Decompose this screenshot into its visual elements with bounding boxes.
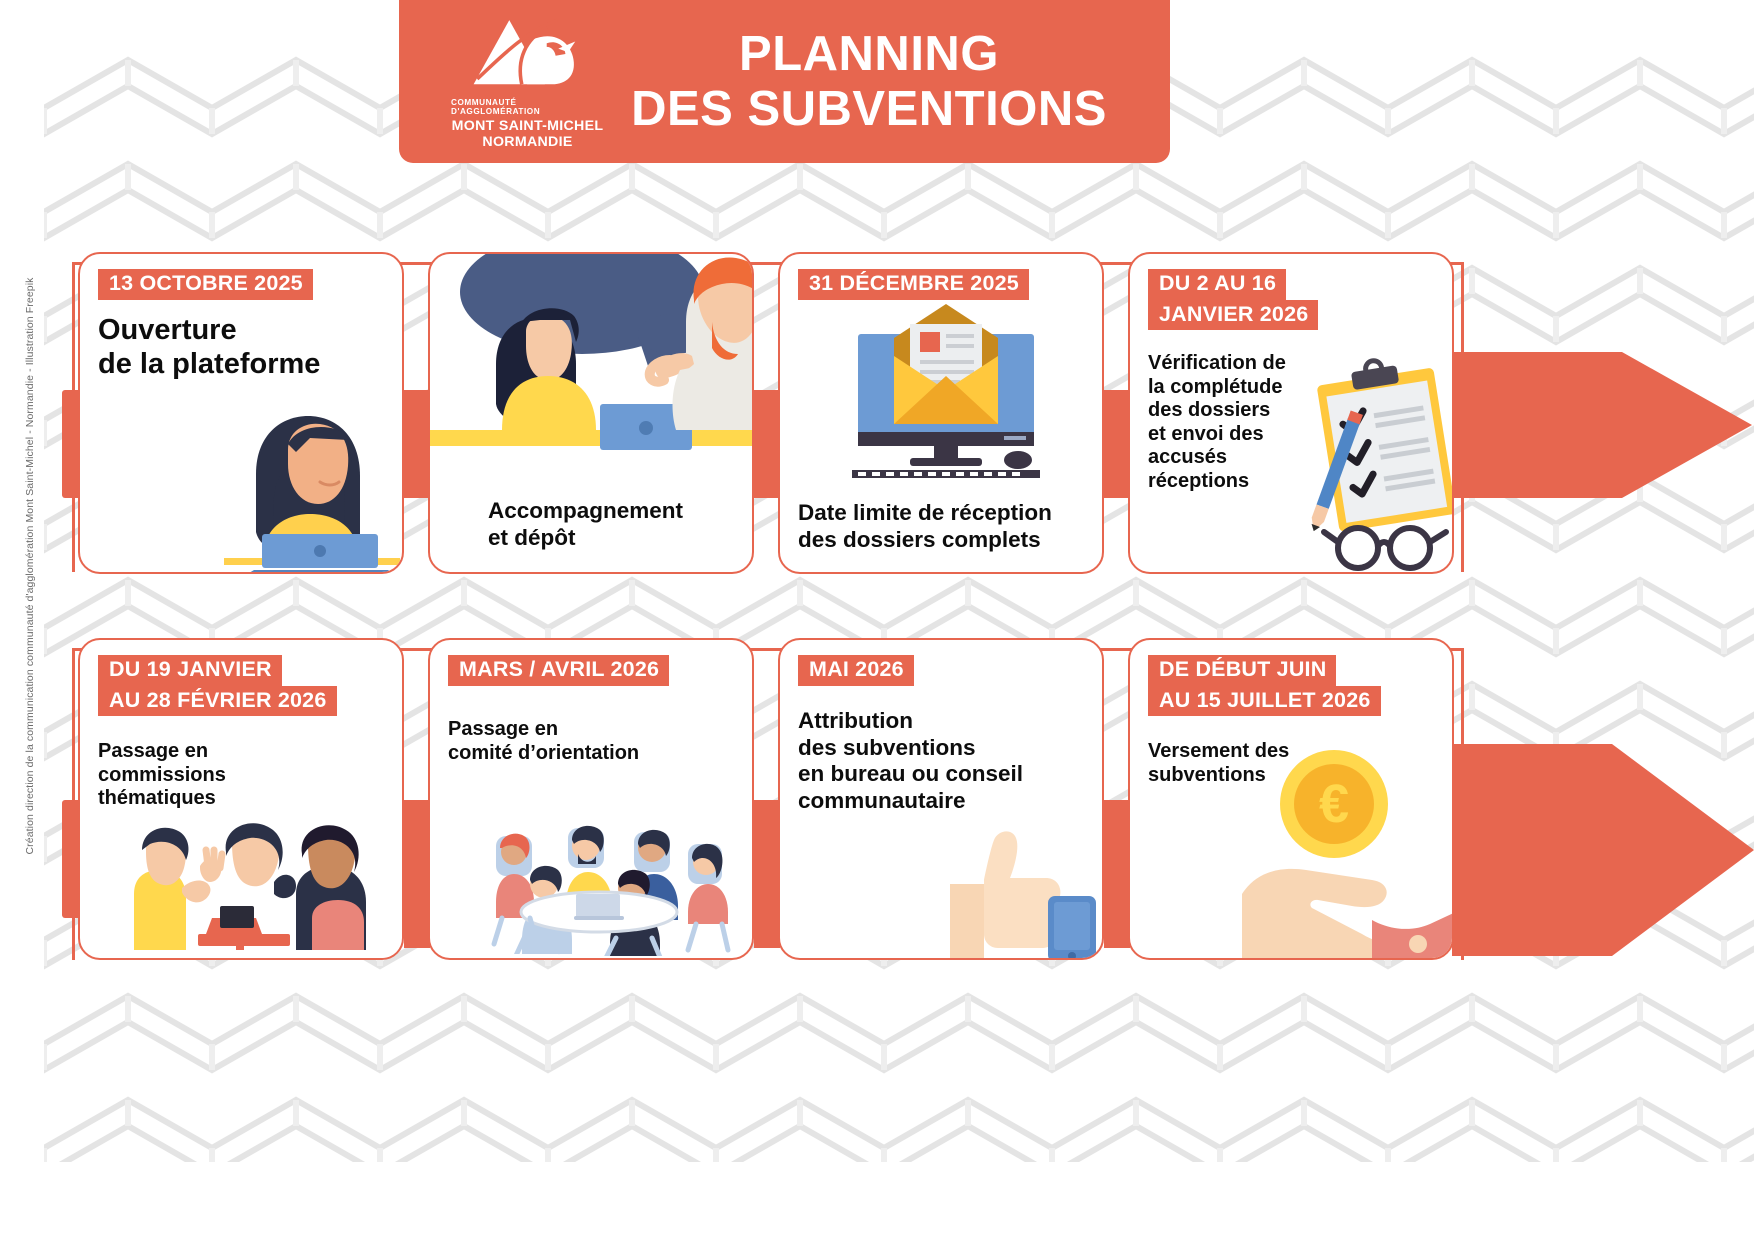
card-3[interactable]: 31 DÉCEMBRE 2025 — [778, 252, 1104, 574]
card-4[interactable]: DU 2 AU 16 JANVIER 2026 Vérification de … — [1128, 252, 1454, 574]
card-8[interactable]: DE DÉBUT JUIN AU 15 JUILLET 2026 Verseme… — [1128, 638, 1454, 960]
credit-text: Création direction de la communication c… — [24, 266, 36, 866]
arrow-right-row2-icon — [1452, 744, 1754, 956]
card-6-date-line-1: MARS / AVRIL 2026 — [448, 655, 669, 686]
card-7-date-badge: MAI 2026 — [798, 655, 914, 686]
card-4-date-line-1: DU 2 AU 16 — [1148, 269, 1286, 300]
card-8-date-badge: DE DÉBUT JUIN AU 15 JUILLET 2026 — [1148, 655, 1381, 716]
rail-connector-7-8 — [1104, 800, 1130, 948]
card-5-date-line-1: DU 19 JANVIER — [98, 655, 282, 686]
page-title-line2: DES SUBVENTIONS — [604, 82, 1134, 137]
card-2[interactable]: Accompagnement et dépôt — [428, 252, 754, 574]
card-3-date-badge: 31 DÉCEMBRE 2025 — [798, 269, 1029, 300]
card-2-title: Accompagnement et dépôt — [488, 498, 748, 551]
page-title-line1: PLANNING — [604, 27, 1134, 82]
logo: COMMUNAUTÉ D'AGGLOMÉRATION MONT SAINT-MI… — [399, 13, 604, 150]
card-5[interactable]: DU 19 JANVIER AU 28 FÉVRIER 2026 Passage… — [78, 638, 404, 960]
card-4-date-badge: DU 2 AU 16 JANVIER 2026 — [1148, 269, 1318, 330]
logo-name-line1: MONT SAINT-MICHEL — [452, 118, 604, 134]
card-8-title: Versement des subventions — [1148, 740, 1368, 787]
card-7-title: Attribution des subventions en bureau ou… — [798, 708, 1104, 814]
card-1[interactable]: 13 OCTOBRE 2025 Ouverture de la platefor… — [78, 252, 404, 574]
card-1-title: Ouverture de la plateforme — [98, 313, 398, 381]
card-6-date-badge: MARS / AVRIL 2026 — [448, 655, 669, 686]
card-5-title: Passage en commissions thématiques — [98, 740, 378, 811]
two-people-talking-illustration — [428, 252, 754, 484]
monitor-with-email-illustration — [836, 328, 1056, 488]
committee-round-table-illustration — [456, 808, 742, 960]
rail-connector-1-2 — [404, 390, 430, 498]
logo-subtitle: COMMUNAUTÉ D'AGGLOMÉRATION — [451, 98, 604, 116]
rail-connector-2-3 — [754, 390, 780, 498]
woman-at-laptop-illustration — [202, 394, 404, 574]
card-8-date-line-1: DE DÉBUT JUIN — [1148, 655, 1336, 686]
rail-connector-5-6 — [404, 800, 430, 948]
card-4-title: Vérification de la complétude des dossie… — [1148, 352, 1338, 494]
card-8-date-line-2: AU 15 JUILLET 2026 — [1148, 686, 1381, 717]
card-1-date-badge: 13 OCTOBRE 2025 — [98, 269, 313, 300]
page-title: PLANNING DES SUBVENTIONS — [604, 27, 1170, 137]
card-1-date-line-1: 13 OCTOBRE 2025 — [98, 269, 313, 300]
mont-saint-michel-logo-icon — [469, 13, 587, 95]
card-5-date-line-2: AU 28 FÉVRIER 2026 — [98, 686, 337, 717]
card-6[interactable]: MARS / AVRIL 2026 Passage en comité d’or… — [428, 638, 754, 960]
rail-connector-3-4 — [1104, 390, 1130, 498]
card-3-title: Date limite de réception des dossiers co… — [798, 500, 1098, 553]
poster-root: Création direction de la communication c… — [0, 0, 1754, 1240]
card-5-date-badge: DU 19 JANVIER AU 28 FÉVRIER 2026 — [98, 655, 337, 716]
three-people-meeting-illustration — [116, 822, 404, 960]
arrow-right-row1-icon — [1452, 352, 1752, 498]
card-3-date-line-1: 31 DÉCEMBRE 2025 — [798, 269, 1029, 300]
logo-name-line2: NORMANDIE — [482, 134, 572, 150]
card-6-title: Passage en comité d’orientation — [448, 718, 738, 765]
rail-connector-6-7 — [754, 800, 780, 948]
chevron-background-pattern — [44, 52, 1754, 1162]
header-banner: COMMUNAUTÉ D'AGGLOMÉRATION MONT SAINT-MI… — [399, 0, 1170, 163]
thumbs-up-phone-illustration — [932, 824, 1104, 960]
card-7[interactable]: MAI 2026 Attribution des subventions en … — [778, 638, 1104, 960]
card-4-date-line-2: JANVIER 2026 — [1148, 300, 1318, 331]
card-7-date-line-1: MAI 2026 — [798, 655, 914, 686]
